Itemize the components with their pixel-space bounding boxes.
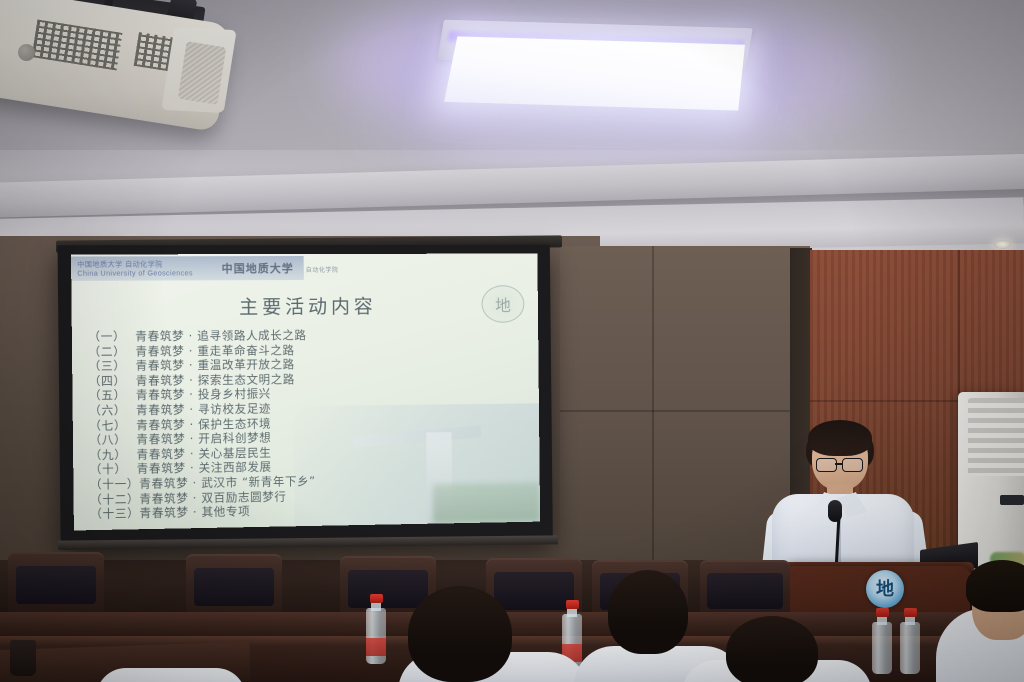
audience-member-head	[608, 570, 688, 654]
presenter-eyeglasses-left-lens	[816, 458, 837, 472]
slide-item-text: 青春筑梦 · 双百励志圆梦行	[139, 489, 286, 506]
ceiling-light-panel	[444, 36, 745, 110]
slide-item-number: （三）	[89, 359, 136, 374]
podium-emblem-mark: 地	[876, 580, 894, 598]
conference-room-photo: 中国地质大学 自动化学院 China University of Geoscie…	[0, 0, 1024, 682]
conference-chair	[186, 554, 282, 616]
podium-university-emblem-icon: 地	[866, 570, 904, 608]
dark-cup	[10, 640, 36, 676]
chair-backrest-pad	[16, 566, 97, 604]
chair-backrest-pad	[348, 570, 429, 608]
slide-title: 主要活动内容	[71, 291, 538, 320]
slide-item-number: （二）	[88, 344, 135, 359]
slide-item-number: （一）	[88, 329, 135, 344]
wall-seam-vertical-2	[958, 250, 960, 400]
slide-item-text: 青春筑梦 · 重温改革开放之路	[135, 357, 294, 372]
water-bottle-cap	[904, 608, 917, 617]
chair-backrest-pad	[707, 573, 783, 609]
slide-item-text: 青春筑梦 · 探索生态文明之路	[136, 372, 295, 388]
slide-item-text: 青春筑梦 · 武汉市 “新青年下乡”	[139, 474, 316, 491]
audience-member-shoulders	[96, 668, 246, 682]
water-bottle-cap	[876, 608, 889, 617]
slide-item-number: （十三）	[90, 506, 140, 522]
presentation-slide: 中国地质大学 自动化学院 China University of Geoscie…	[71, 254, 540, 531]
audience-member-head	[726, 616, 818, 682]
air-conditioner-display-panel	[1000, 495, 1024, 505]
slide-item-number: （六）	[89, 403, 136, 418]
slide-item-text: 青春筑梦 · 保护生态环境	[136, 416, 271, 432]
slide-university-name: 中国地质大学	[221, 260, 293, 276]
microphone-head	[828, 500, 842, 522]
slide-item-text: 青春筑梦 · 投身乡村振兴	[136, 387, 271, 403]
slide-item-text: 青春筑梦 · 重走革命奋斗之路	[135, 343, 294, 358]
downlight-5	[994, 240, 1011, 249]
slide-item-list: （一）青春筑梦 · 追寻领路人成长之路 （二）青春筑梦 · 重走革命奋斗之路 （…	[88, 327, 530, 522]
slide-item-text: 青春筑梦 · 其他专项	[139, 504, 250, 520]
slide-university-department: 自动化学院	[306, 265, 339, 274]
water-bottle	[872, 622, 892, 674]
slide-item-text: 青春筑梦 · 追寻领路人成长之路	[135, 328, 306, 343]
water-bottle-label	[366, 638, 386, 656]
presenter-eyeglasses-right-lens	[842, 458, 863, 472]
conference-chair	[8, 552, 104, 614]
slide-item-number: （九）	[89, 447, 136, 462]
slide-item-number: （十二）	[90, 491, 140, 507]
conference-chair	[700, 560, 790, 618]
slide-item-number: （五）	[89, 388, 136, 403]
air-conditioner-vent-grille	[968, 398, 1024, 476]
slide-item-number: （八）	[89, 432, 136, 447]
presenter-eyeglasses-bridge	[835, 463, 843, 465]
chair-backrest-pad	[194, 568, 275, 606]
slide-item-number: （十）	[90, 462, 137, 477]
projection-screen-surface: 中国地质大学 自动化学院 China University of Geoscie…	[71, 254, 540, 531]
water-bottle	[900, 622, 920, 674]
slide-item-number: （四）	[89, 373, 136, 388]
wall-seam-horizontal-1	[560, 410, 810, 412]
slide-item-text: 青春筑梦 · 关注西部发展	[137, 460, 272, 476]
slide-item-text: 青春筑梦 · 寻访校友足迹	[136, 401, 271, 417]
presenter-hair	[808, 420, 872, 456]
slide-item-text: 青春筑梦 · 开启科创梦想	[136, 431, 271, 447]
water-bottle-cap	[370, 594, 383, 603]
conference-table-top	[0, 612, 1024, 638]
slide-item-number: （十一）	[90, 477, 140, 493]
water-bottle-cap	[566, 600, 579, 609]
audience-member-head	[408, 586, 512, 682]
slide-item-number: （七）	[89, 418, 136, 433]
chair-backrest-pad	[494, 572, 575, 610]
audience-member-hair	[966, 560, 1024, 612]
